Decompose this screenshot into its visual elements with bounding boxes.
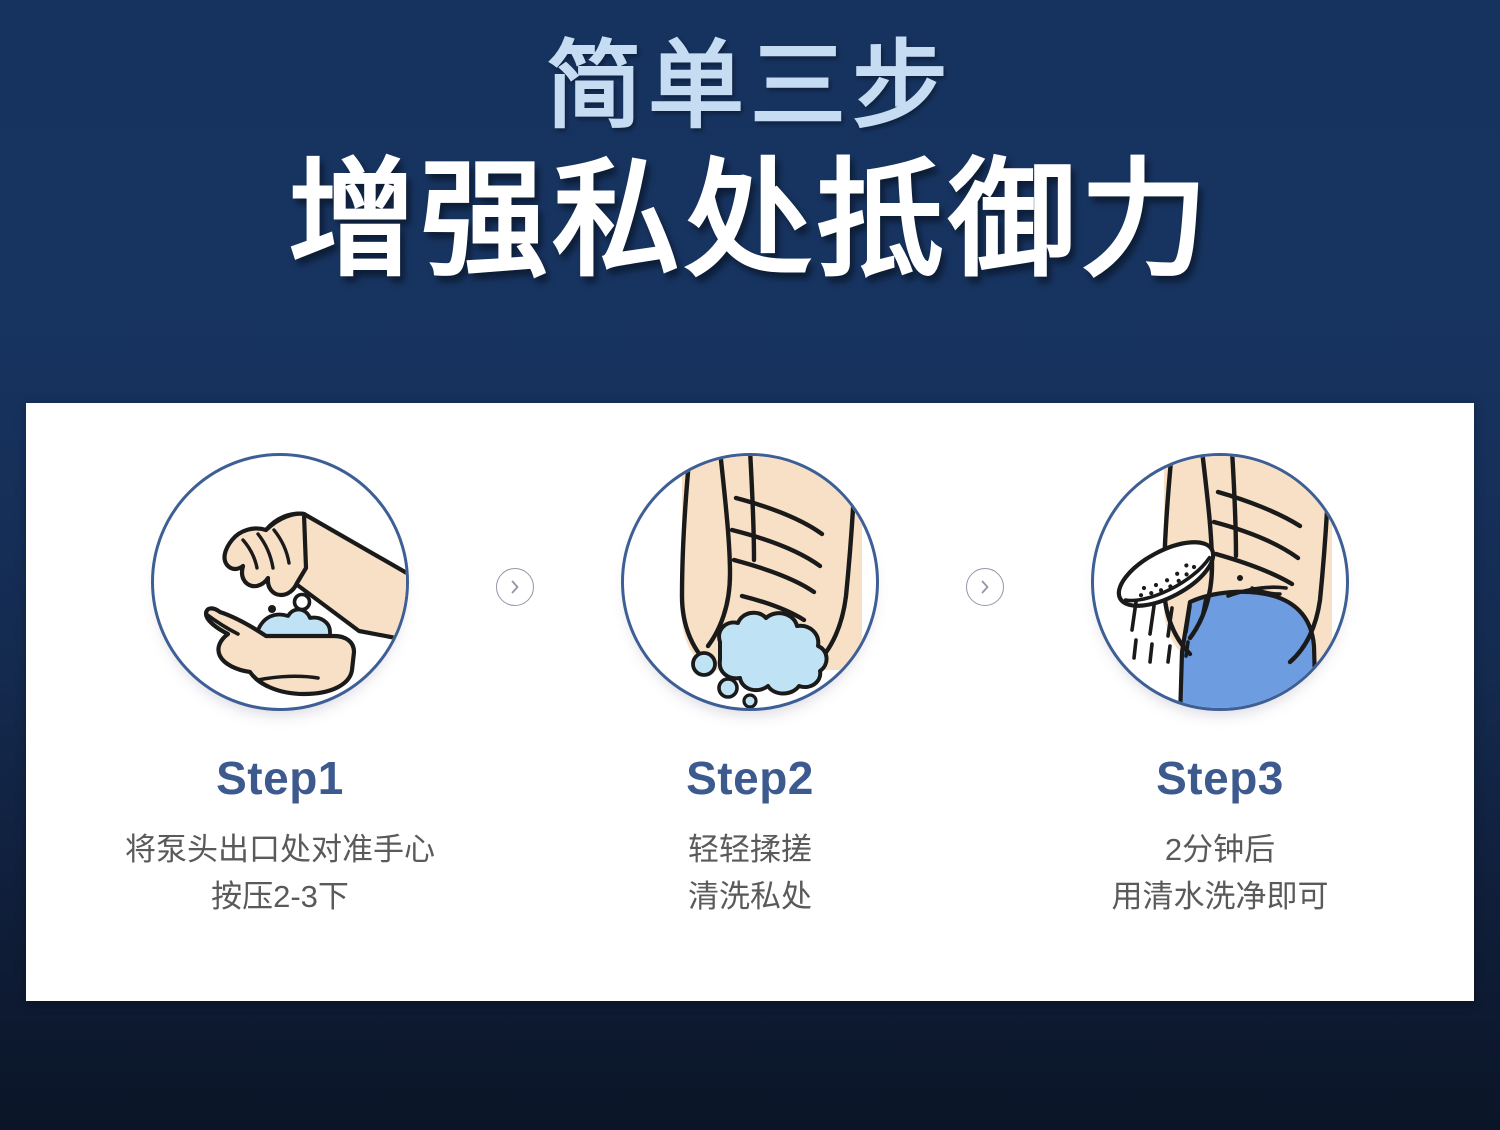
poster-subtitle: 简单三步 — [0, 30, 1500, 143]
step-1-title: Step1 — [216, 755, 344, 801]
step-1-illustration — [151, 453, 409, 711]
poster-title: 增强私处抵御力 — [0, 149, 1500, 292]
step-1-description: 将泵头出口处对准手心 按压2-3下 — [125, 827, 435, 920]
chevron-right-circle-icon — [496, 568, 534, 606]
promo-poster: 简单三步 增强私处抵御力 — [0, 0, 1500, 1130]
step-1: Step1 将泵头出口处对准手心 按压2-3下 — [80, 453, 480, 920]
steps-row: Step1 将泵头出口处对准手心 按压2-3下 — [26, 403, 1474, 1001]
step-separator-1 — [480, 453, 550, 606]
step-separator-2 — [950, 453, 1020, 606]
step-3-title: Step3 — [1156, 755, 1284, 801]
chevron-right-icon — [507, 579, 523, 595]
lather-rub-body-icon — [624, 456, 876, 708]
chevron-right-icon — [977, 579, 993, 595]
chevron-right-circle-icon-2 — [966, 568, 1004, 606]
step-2-description: 轻轻揉搓 清洗私处 — [688, 827, 812, 920]
step-2-title: Step2 — [686, 755, 814, 801]
shower-rinse-icon — [1094, 456, 1346, 708]
step-3-illustration — [1091, 453, 1349, 711]
steps-card: Step1 将泵头出口处对准手心 按压2-3下 — [26, 403, 1474, 1001]
step-3-description: 2分钟后 用清水洗净即可 — [1112, 827, 1329, 920]
step-2-illustration — [621, 453, 879, 711]
hand-pump-dispense-icon — [154, 456, 406, 708]
step-2: Step2 轻轻揉搓 清洗私处 — [550, 453, 950, 920]
headline-block: 简单三步 增强私处抵御力 — [0, 0, 1500, 293]
step-3: Step3 2分钟后 用清水洗净即可 — [1020, 453, 1420, 920]
